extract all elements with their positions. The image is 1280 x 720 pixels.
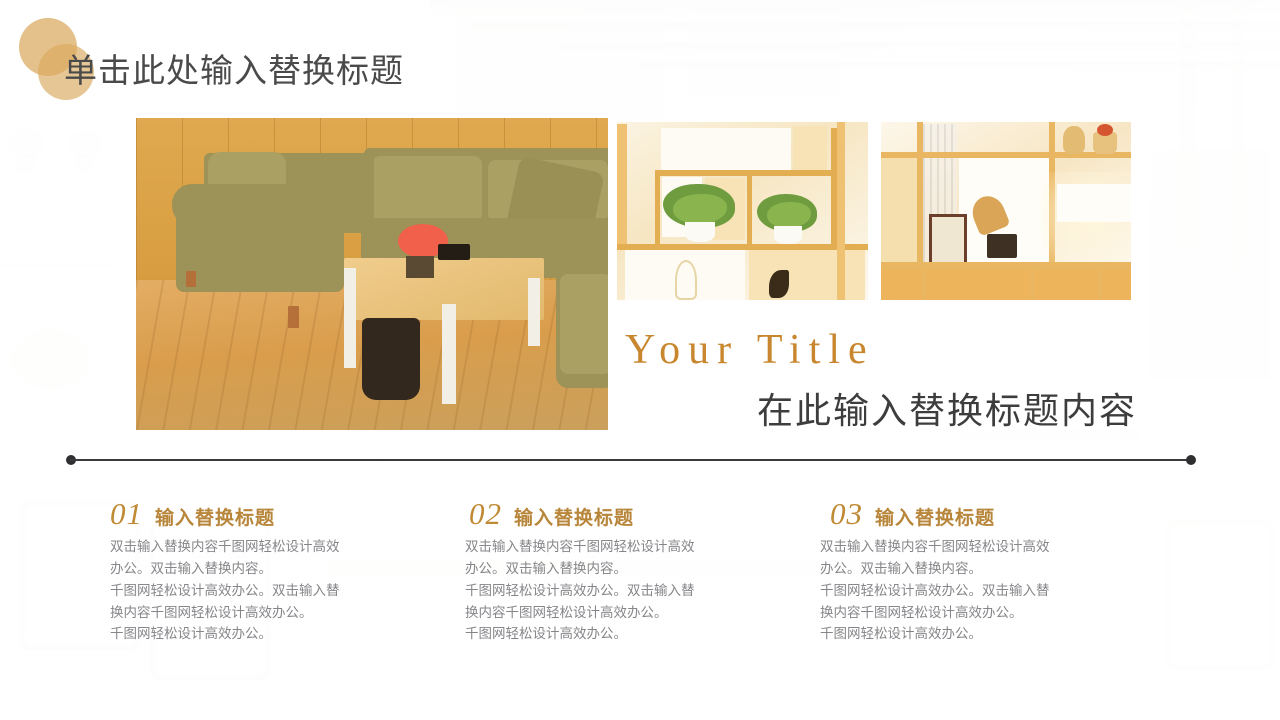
column-number: 01 <box>110 496 143 532</box>
living-room-photo <box>136 118 608 430</box>
column-body-text: 双击输入替换内容千图网轻松设计高效 办公。双击输入替换内容。 千图网轻松设计高效… <box>820 536 1110 645</box>
shelf-plants-photo <box>617 122 868 300</box>
content-column-03: 03 输入替换标题 双击输入替换内容千图网轻松设计高效 办公。双击输入替换内容。… <box>820 496 1175 645</box>
column-title: 输入替换标题 <box>155 503 275 530</box>
hero-chinese-title: 在此输入替换标题内容 <box>757 382 1137 434</box>
page-title: 单击此处输入替换标题 <box>64 44 404 92</box>
column-header: 03 输入替换标题 <box>820 496 1175 532</box>
column-number: 02 <box>469 496 502 532</box>
content-column-01: 01 输入替换标题 双击输入替换内容千图网轻松设计高效 办公。双击输入替换内容。… <box>110 496 465 645</box>
column-title: 输入替换标题 <box>514 503 634 530</box>
hero-english-title: Your Title <box>625 326 875 374</box>
column-title: 输入替换标题 <box>875 503 995 530</box>
gramophone-shelf-photo <box>881 122 1131 300</box>
column-header: 02 输入替换标题 <box>465 496 820 532</box>
column-body-text: 双击输入替换内容千图网轻松设计高效 办公。双击输入替换内容。 千图网轻松设计高效… <box>465 536 755 645</box>
column-number: 03 <box>830 496 863 532</box>
divider-line <box>70 459 1192 461</box>
divider-dot-right <box>1186 455 1196 465</box>
content-columns: 01 输入替换标题 双击输入替换内容千图网轻松设计高效 办公。双击输入替换内容。… <box>110 496 1175 645</box>
horizontal-divider <box>66 458 1196 462</box>
column-body-text: 双击输入替换内容千图网轻松设计高效 办公。双击输入替换内容。 千图网轻松设计高效… <box>110 536 400 645</box>
column-header: 01 输入替换标题 <box>110 496 465 532</box>
content-column-02: 02 输入替换标题 双击输入替换内容千图网轻松设计高效 办公。双击输入替换内容。… <box>465 496 820 645</box>
